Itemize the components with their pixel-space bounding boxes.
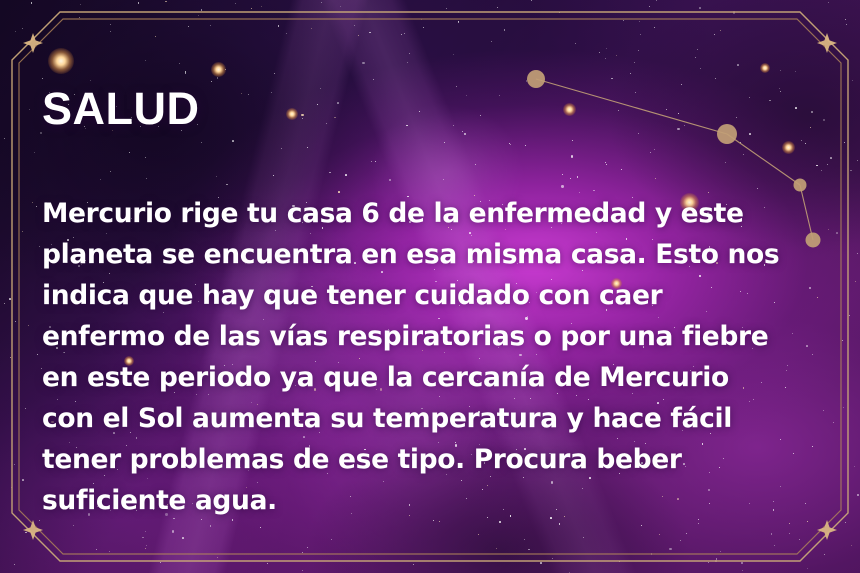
body-text-line: tener problemas de ese tipo. Procura beb… — [42, 439, 842, 480]
card-content: SALUD Mercurio rige tu casa 6 de la enfe… — [42, 86, 832, 521]
body-text-line: con el Sol aumenta su temperatura y hace… — [42, 398, 842, 439]
body-text-line: en este periodo ya que la cercanía de Me… — [42, 357, 842, 398]
body-text-line: enfermo de las vías respiratorias o por … — [42, 316, 842, 357]
body-text-line: planeta se encuentra en esa misma casa. … — [42, 234, 842, 275]
glow-star — [211, 62, 226, 77]
horoscope-salud-card: SALUD Mercurio rige tu casa 6 de la enfe… — [0, 0, 860, 573]
body-text-line: indica que hay que tener cuidado con cae… — [42, 275, 842, 316]
body-text-line: Mercurio rige tu casa 6 de la enfermedad… — [42, 193, 842, 234]
glow-star — [48, 48, 74, 74]
body-text: Mercurio rige tu casa 6 de la enfermedad… — [42, 193, 842, 521]
page-title: SALUD — [42, 86, 832, 131]
body-text-line: suficiente agua. — [42, 480, 842, 521]
glow-star — [760, 63, 770, 73]
